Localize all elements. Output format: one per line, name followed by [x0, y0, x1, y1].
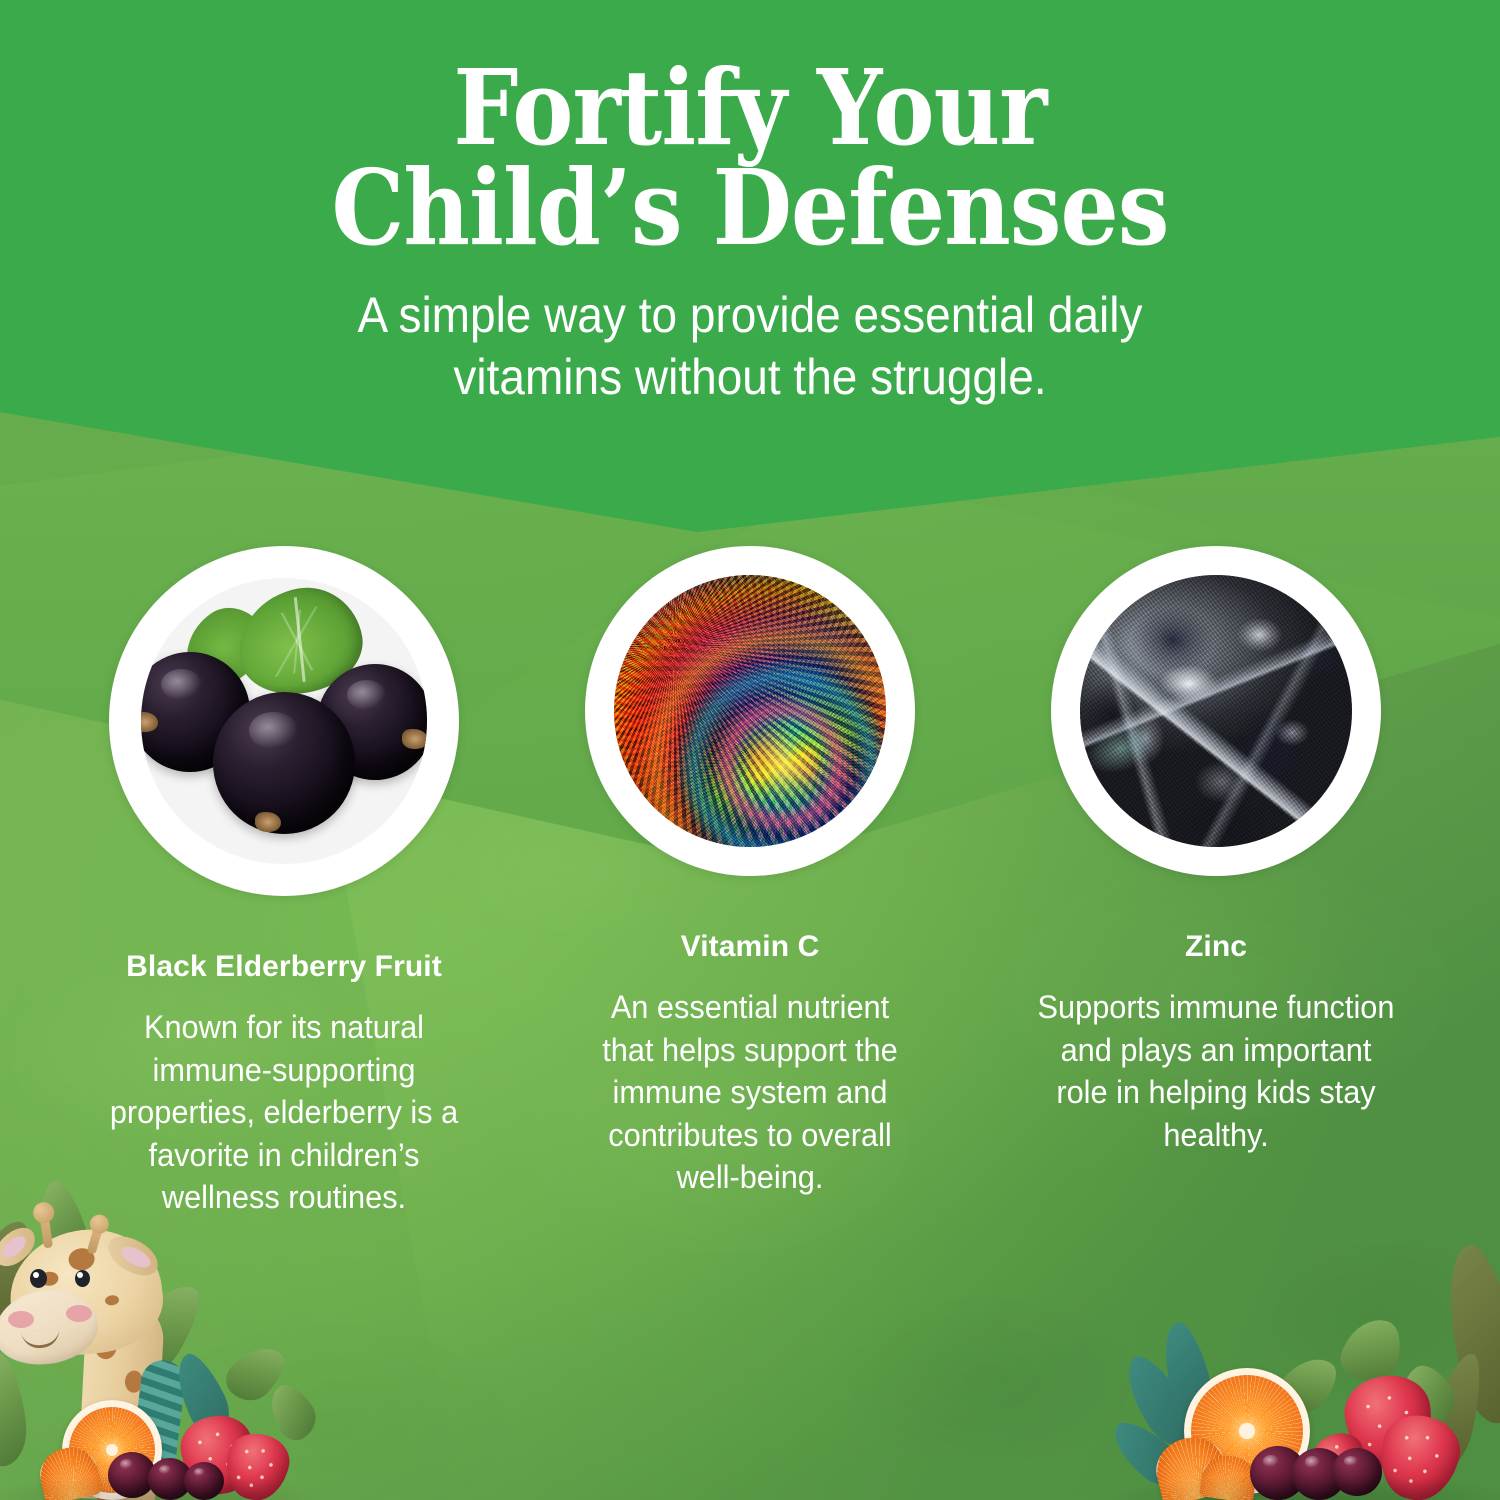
page-subtitle: A simple way to provide essential daily … [60, 284, 1440, 409]
crystal-grain-overlay [614, 575, 886, 847]
page-subtitle-line-2: vitamins without the struggle. [60, 346, 1440, 409]
page-title-line-2: Child’s Defenses [90, 158, 1410, 258]
berry-calyx [402, 729, 427, 749]
ingredient-body-vitamin-c: An essential nutrient that helps support… [587, 986, 913, 1199]
elderberry-image-frame [109, 546, 459, 896]
ingredient-title-zinc: Zinc [1185, 930, 1247, 964]
ingredient-card-elderberry: Black Elderberry Fruit Known for its nat… [51, 546, 517, 1219]
elderberry-berry-3 [213, 692, 355, 834]
ingredient-card-vitamin-c: Vitamin C An essential nutrient that hel… [517, 546, 983, 1199]
page-subtitle-line-1: A simple way to provide essential daily [60, 284, 1440, 347]
ingredient-title-elderberry: Black Elderberry Fruit [126, 950, 442, 984]
vitamin-c-image-frame [585, 546, 915, 876]
ingredient-title-vitamin-c: Vitamin C [681, 930, 820, 964]
ingredient-body-elderberry: Known for its natural immune-supporting … [96, 1006, 472, 1219]
black-elderberry-photo [141, 578, 427, 864]
header: Fortify Your Child’s Defenses A simple w… [0, 0, 1500, 409]
zinc-grain-overlay [1080, 575, 1352, 847]
infographic-poster: Fortify Your Child’s Defenses A simple w… [0, 0, 1500, 1500]
zinc-image-frame [1051, 546, 1381, 876]
zinc-mineral-photo [1080, 575, 1352, 847]
berry-calyx [255, 812, 281, 832]
ingredient-card-zinc: Zinc Supports immune function and plays … [983, 546, 1449, 1156]
ingredient-cards: Black Elderberry Fruit Known for its nat… [0, 546, 1500, 1219]
page-title: Fortify Your Child’s Defenses [90, 58, 1410, 258]
vitamin-c-crystal-micrograph [614, 575, 886, 847]
page-title-line-1: Fortify Your [90, 58, 1410, 158]
berry-calyx [141, 712, 158, 732]
ingredient-body-zinc: Supports immune function and plays an im… [1037, 986, 1394, 1156]
